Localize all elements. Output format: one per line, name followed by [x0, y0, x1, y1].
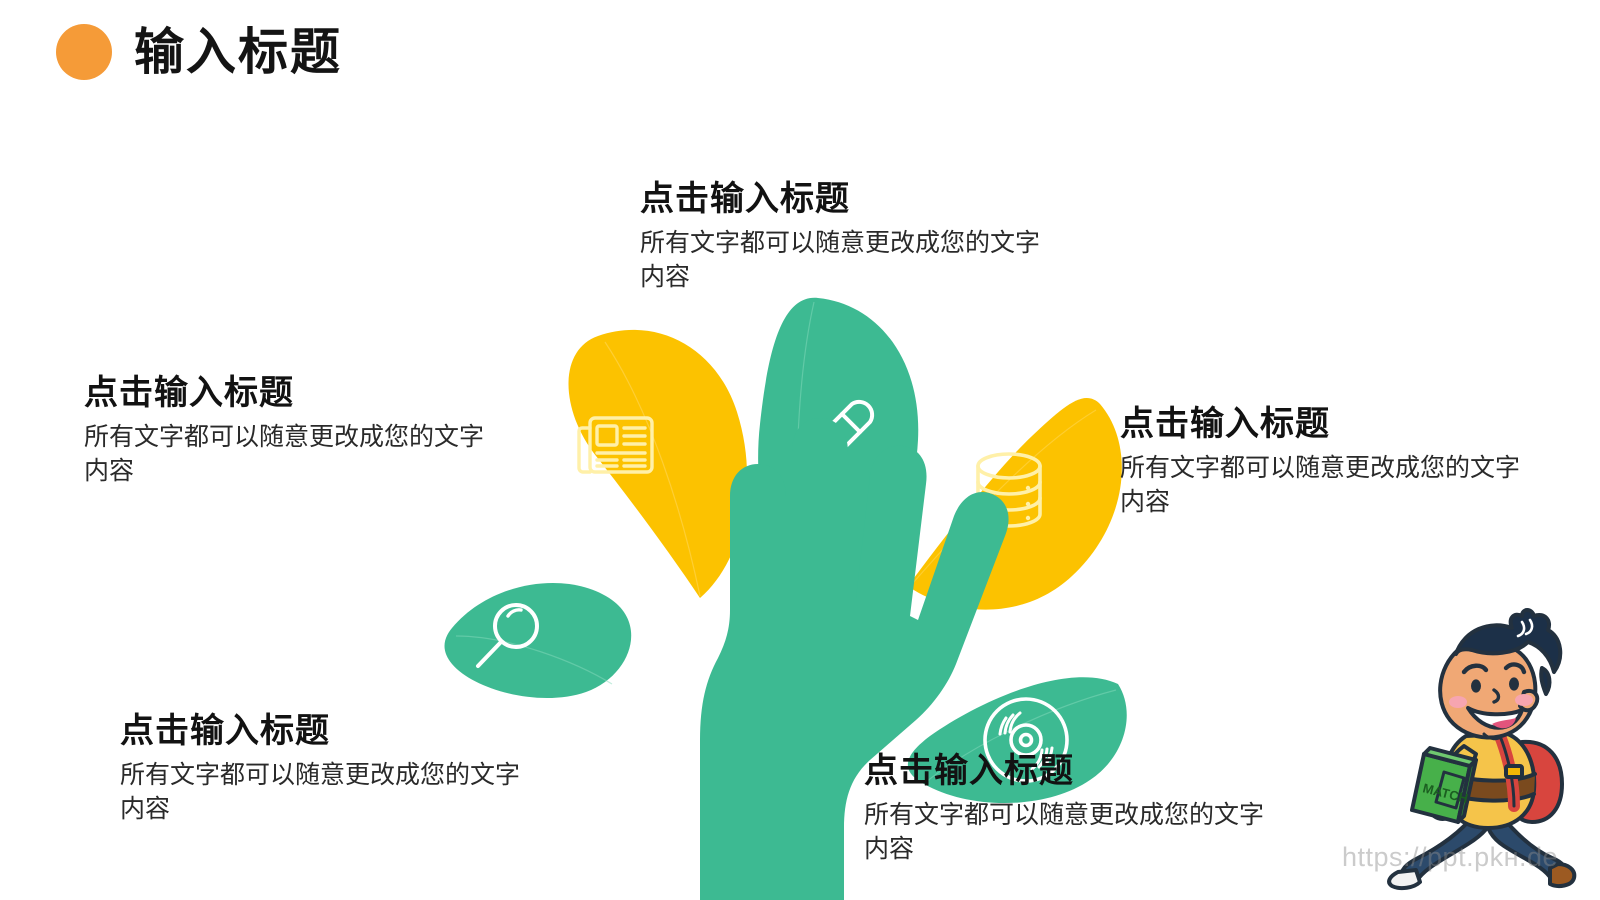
text-block-right-title: 点击输入标题	[1120, 405, 1540, 444]
text-block-right-body: 所有文字都可以随意更改成您的文字内容	[1120, 452, 1540, 520]
page-title: 输入标题	[56, 24, 342, 80]
text-block-bottom-left-title: 点击输入标题	[120, 712, 540, 751]
text-block-bottom-right-body: 所有文字都可以随意更改成您的文字内容	[864, 799, 1284, 867]
slide-canvas: 输入标题	[0, 0, 1600, 900]
text-block-left-title: 点击输入标题	[84, 374, 504, 413]
leaf-newspaper[interactable]	[569, 330, 748, 598]
text-block-top-body: 所有文字都可以随意更改成您的文字内容	[640, 227, 1060, 295]
circle-bullet-icon	[56, 24, 112, 80]
text-block-right[interactable]: 点击输入标题 所有文字都可以随意更改成您的文字内容	[1120, 405, 1540, 520]
text-block-top[interactable]: 点击输入标题 所有文字都可以随意更改成您的文字内容	[640, 180, 1060, 295]
running-schoolboy-icon: MATCH	[1372, 606, 1600, 900]
text-block-bottom-left-body: 所有文字都可以随意更改成您的文字内容	[120, 759, 540, 827]
text-block-bottom-right[interactable]: 点击输入标题 所有文字都可以随意更改成您的文字内容	[864, 752, 1284, 867]
text-block-left[interactable]: 点击输入标题 所有文字都可以随意更改成您的文字内容	[84, 374, 504, 489]
text-block-left-body: 所有文字都可以随意更改成您的文字内容	[84, 421, 504, 489]
text-block-top-title: 点击输入标题	[640, 180, 1060, 219]
text-block-bottom-left[interactable]: 点击输入标题 所有文字都可以随意更改成您的文字内容	[120, 712, 540, 827]
text-block-bottom-right-title: 点击输入标题	[864, 752, 1284, 791]
page-title-text: 输入标题	[134, 27, 342, 77]
leaf-search[interactable]	[445, 583, 632, 698]
